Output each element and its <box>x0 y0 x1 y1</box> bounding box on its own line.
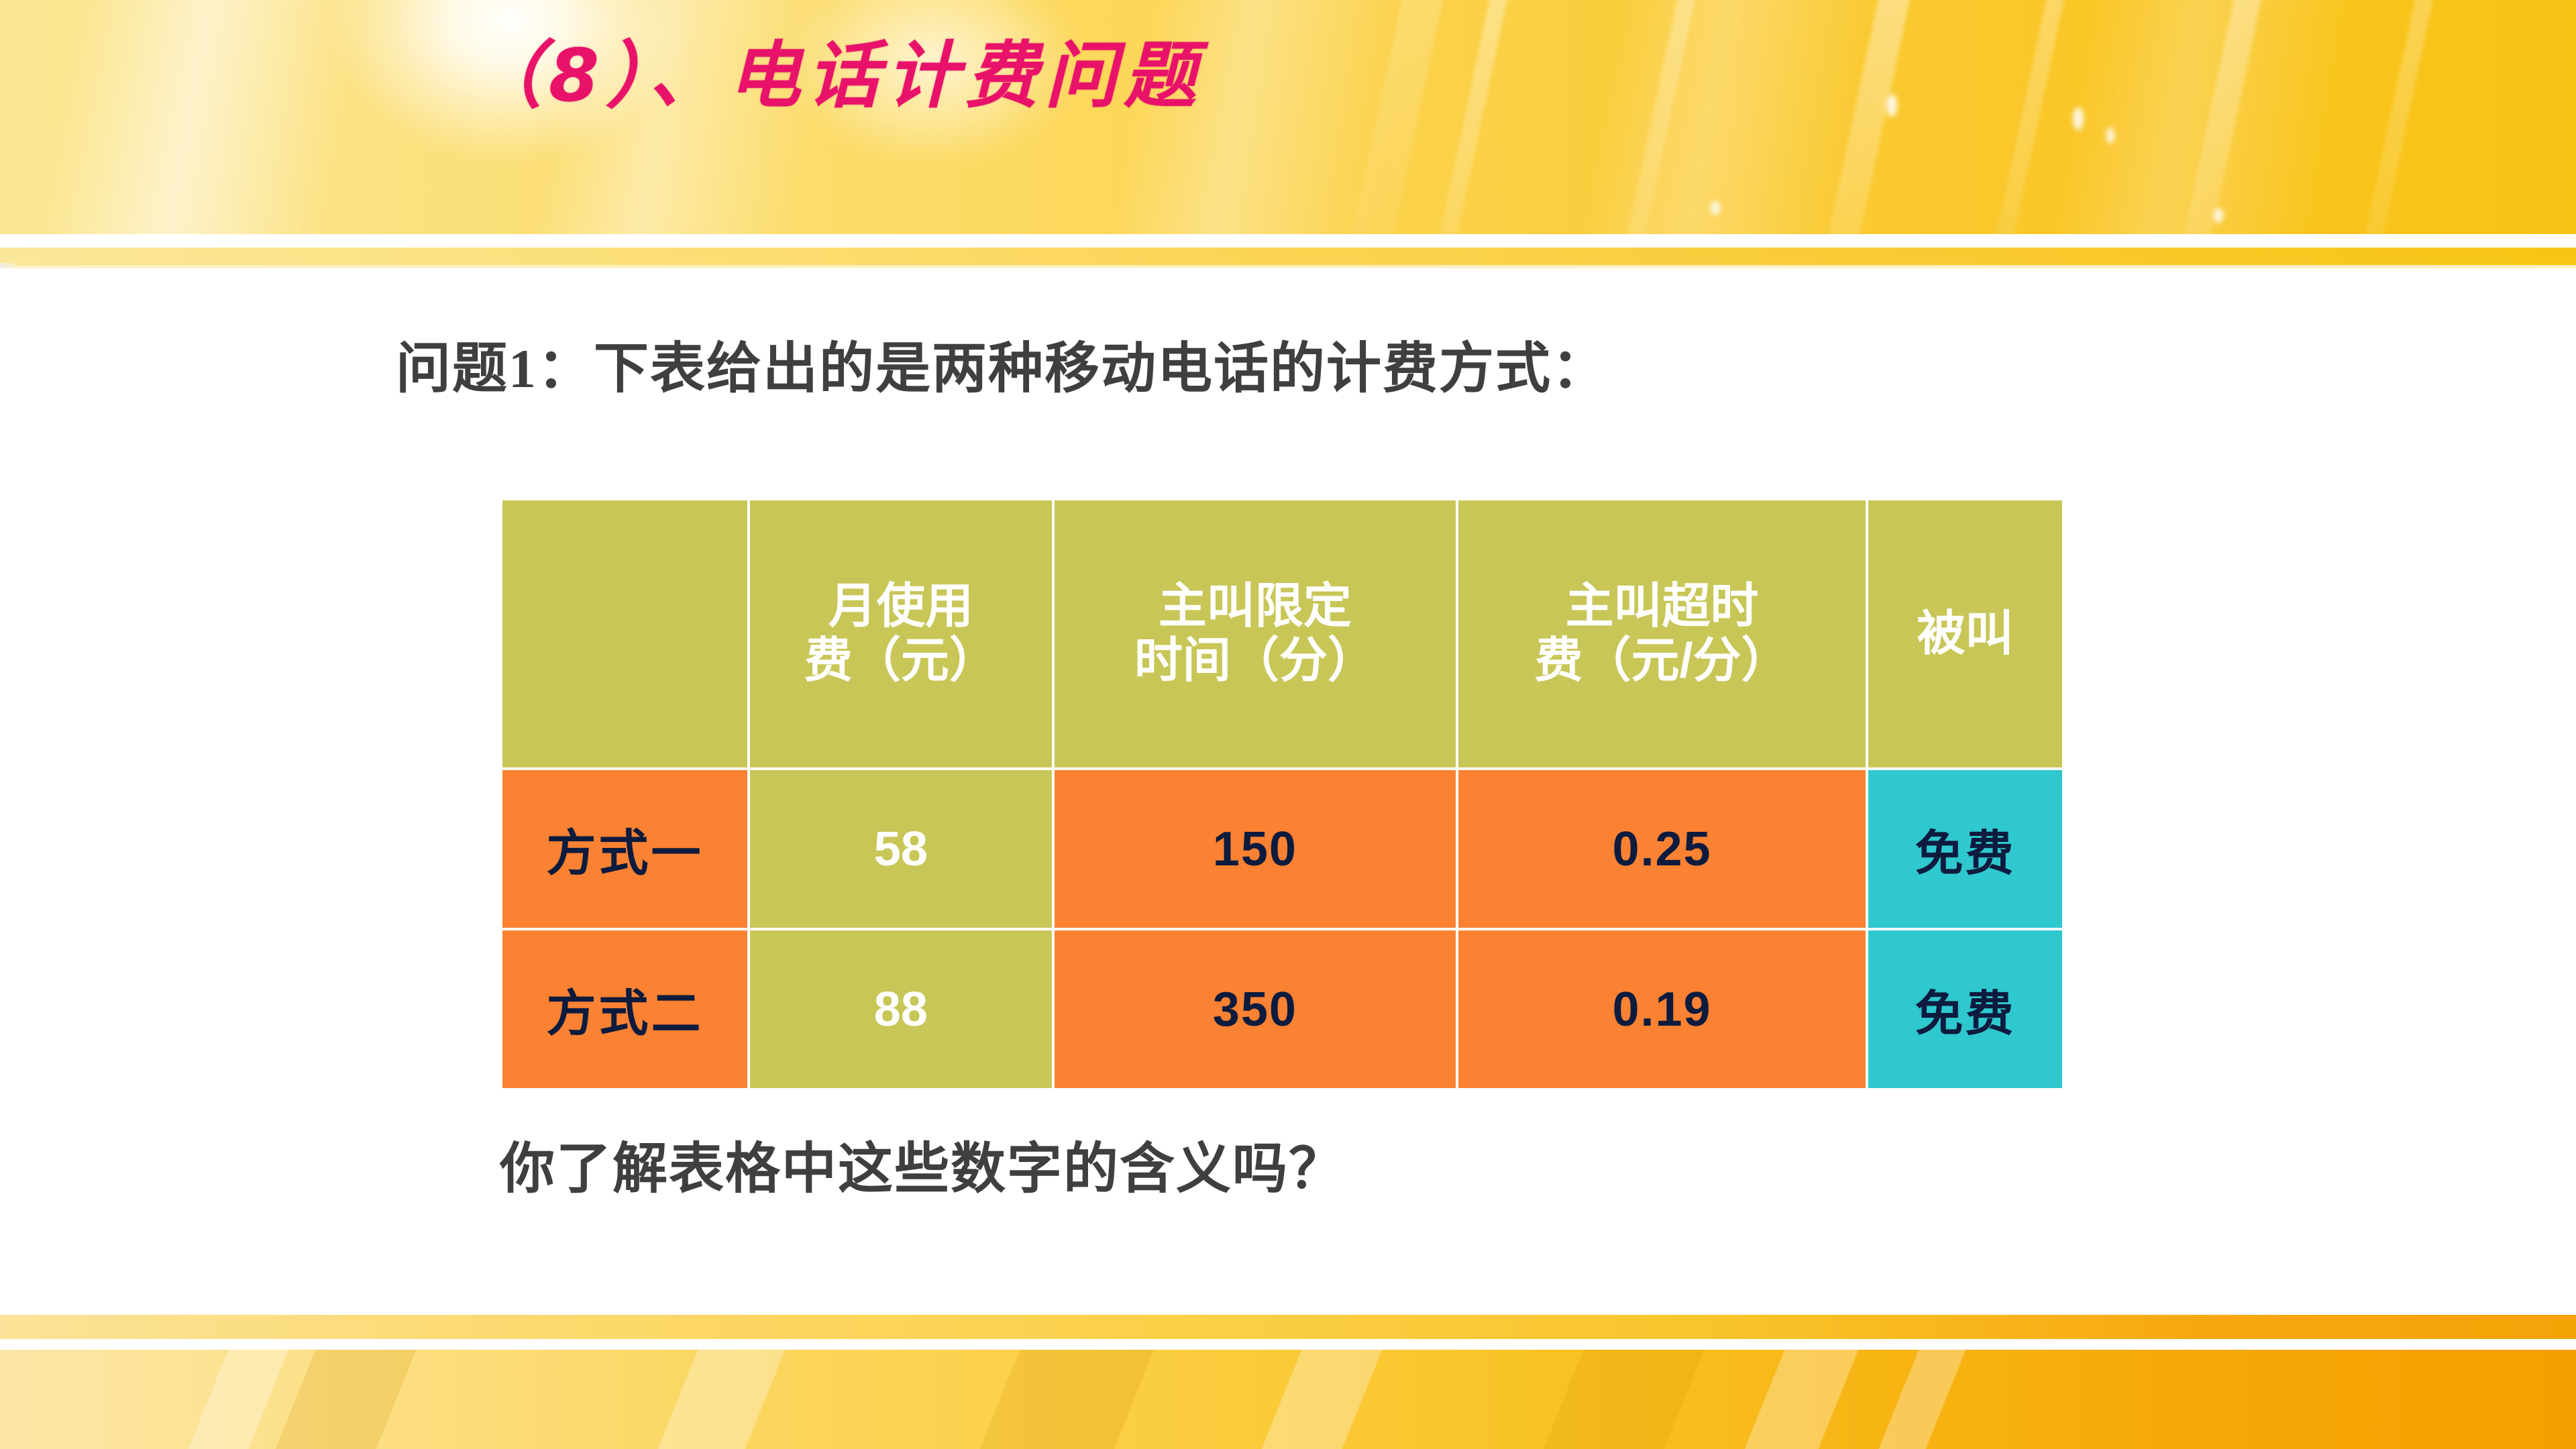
banner-sparkle-icon <box>2073 107 2084 130</box>
banner-light-streak-icon <box>1976 0 2080 234</box>
banner-light-streak-icon <box>2164 0 2277 234</box>
header-line-2: 时间（分） <box>1055 634 1456 688</box>
closing-question-text: 你了解表格中这些数字的含义吗？ <box>500 1124 1345 1203</box>
cell-monthly-fee: 58 <box>750 770 1051 928</box>
table-header-row: 月使用 费（元） 主叫限定 时间（分） 主叫超时 费（元/分） 被叫 <box>502 500 2062 767</box>
footer-streak-icon <box>1510 1350 1723 1449</box>
footer-streak-icon <box>1711 1350 1877 1449</box>
slide-title: （8）、电话计费问题 <box>470 17 1203 122</box>
table-header-corner-empty <box>502 500 747 767</box>
slide-footer-band <box>0 1315 2576 1449</box>
billing-plan-table: 月使用 费（元） 主叫限定 时间（分） 主叫超时 费（元/分） 被叫 方式一 <box>500 498 2065 1091</box>
cell-called: 免费 <box>1868 930 2062 1088</box>
banner-separator-gold <box>0 248 2576 265</box>
banner-light-streak-icon <box>1607 0 1711 234</box>
footer-streak-icon <box>1845 1350 1984 1449</box>
cell-limit-minutes: 350 <box>1055 930 1456 1088</box>
question-intro-text: 问题1：下表给出的是两种移动电话的计费方式： <box>396 323 1608 403</box>
cell-overtime-fee: 0.19 <box>1458 930 1866 1088</box>
header-line-1: 主叫超时 <box>1458 580 1866 634</box>
table-header-monthly-fee: 月使用 费（元） <box>750 500 1051 767</box>
banner-light-streak-icon <box>1332 0 1458 234</box>
footer-white-gap <box>0 1339 2576 1350</box>
footer-streak-icon <box>1228 1350 1401 1449</box>
table-row: 方式二 88 350 0.19 免费 <box>502 930 2062 1088</box>
cell-monthly-fee: 88 <box>750 930 1051 1088</box>
banner-light-streak-icon <box>2345 0 2449 234</box>
footer-main-band <box>0 1350 2576 1449</box>
banner-light-streak-icon <box>1809 0 1925 234</box>
table-header-limit-minutes: 主叫限定 时间（分） <box>1055 500 1456 767</box>
slide-header-banner: （8）、电话计费问题 <box>0 0 2576 234</box>
banner-sparkle-icon <box>2214 208 2223 223</box>
banner-sparkle-icon <box>2106 127 2114 144</box>
cell-limit-minutes: 150 <box>1055 770 1456 928</box>
header-line-2: 费（元/分） <box>1458 634 1866 688</box>
banner-sparkle-icon <box>1711 201 1720 215</box>
slide-content: 问题1：下表给出的是两种移动电话的计费方式： 月使用 费（元） 主叫限定 时间（… <box>0 268 2576 1315</box>
table-header-overtime-fee: 主叫超时 费（元/分） <box>1458 500 1866 767</box>
banner-sparkle-icon <box>1886 94 1897 117</box>
cell-called: 免费 <box>1868 770 2062 928</box>
footer-thin-stripe <box>0 1315 2576 1339</box>
header-line-1: 主叫限定 <box>1055 580 1456 634</box>
header-line-1: 被叫 <box>1868 607 2062 661</box>
footer-streak-icon <box>947 1350 1173 1449</box>
banner-separator-white <box>0 234 2576 248</box>
table-header-called: 被叫 <box>1868 500 2062 767</box>
cell-plan-label: 方式二 <box>502 930 747 1088</box>
cell-plan-label: 方式一 <box>502 770 747 928</box>
header-line-1: 月使用 <box>750 580 1051 634</box>
footer-streak-icon <box>625 1350 804 1449</box>
header-line-2: 费（元） <box>750 634 1051 688</box>
table-row: 方式一 58 150 0.25 免费 <box>502 770 2062 928</box>
cell-overtime-fee: 0.25 <box>1458 770 1866 928</box>
